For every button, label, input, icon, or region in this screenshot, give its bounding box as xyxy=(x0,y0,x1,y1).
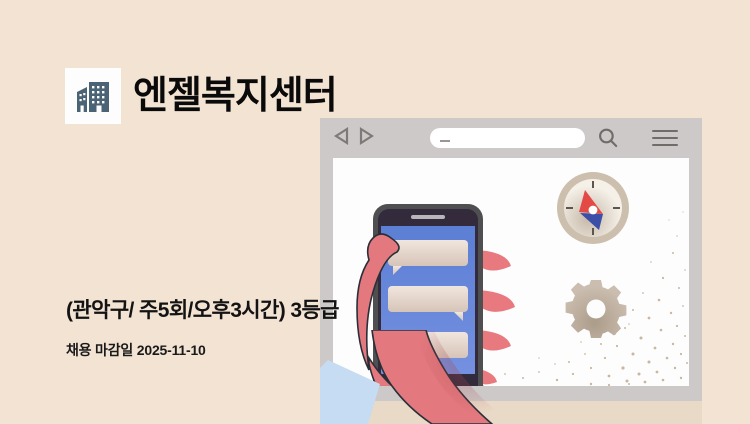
menu-line-3 xyxy=(652,144,678,146)
window-base-shadow xyxy=(320,401,702,424)
browser-toolbar xyxy=(320,118,702,158)
browser-viewport xyxy=(333,158,689,386)
menu-line-2 xyxy=(652,137,678,139)
menu-line-1 xyxy=(652,130,678,132)
triangle-left-icon[interactable] xyxy=(334,127,349,150)
hamburger-menu-icon[interactable] xyxy=(652,130,678,146)
hand-holding-phone xyxy=(333,168,577,386)
job-deadline: 채용 마감일 2025-11-10 xyxy=(66,340,206,360)
text-caret xyxy=(440,140,450,142)
navigation-arrows xyxy=(334,127,374,150)
compass-tick-n xyxy=(592,181,594,188)
brand-header: 엔젤복지센터 xyxy=(65,68,337,124)
job-conditions: (관악구/ 주5회/오후3시간) 3등급 xyxy=(66,294,339,324)
triangle-right-icon[interactable] xyxy=(359,127,374,150)
compass-hub xyxy=(589,206,598,215)
smartphone xyxy=(373,204,483,386)
page-title: 엔젤복지센터 xyxy=(133,77,337,115)
browser-window xyxy=(320,118,702,401)
compass-tick-s xyxy=(592,228,594,235)
magnifier-icon[interactable] xyxy=(597,127,619,149)
address-input[interactable] xyxy=(430,128,585,148)
compass-tick-e xyxy=(613,207,620,209)
phone-speaker xyxy=(411,215,445,219)
poster-canvas: 엔젤복지센터 (관악구/ 주5회/오후3시간) 3등급 채용 마감일 2025-… xyxy=(0,0,750,424)
office-building-icon xyxy=(65,68,121,124)
